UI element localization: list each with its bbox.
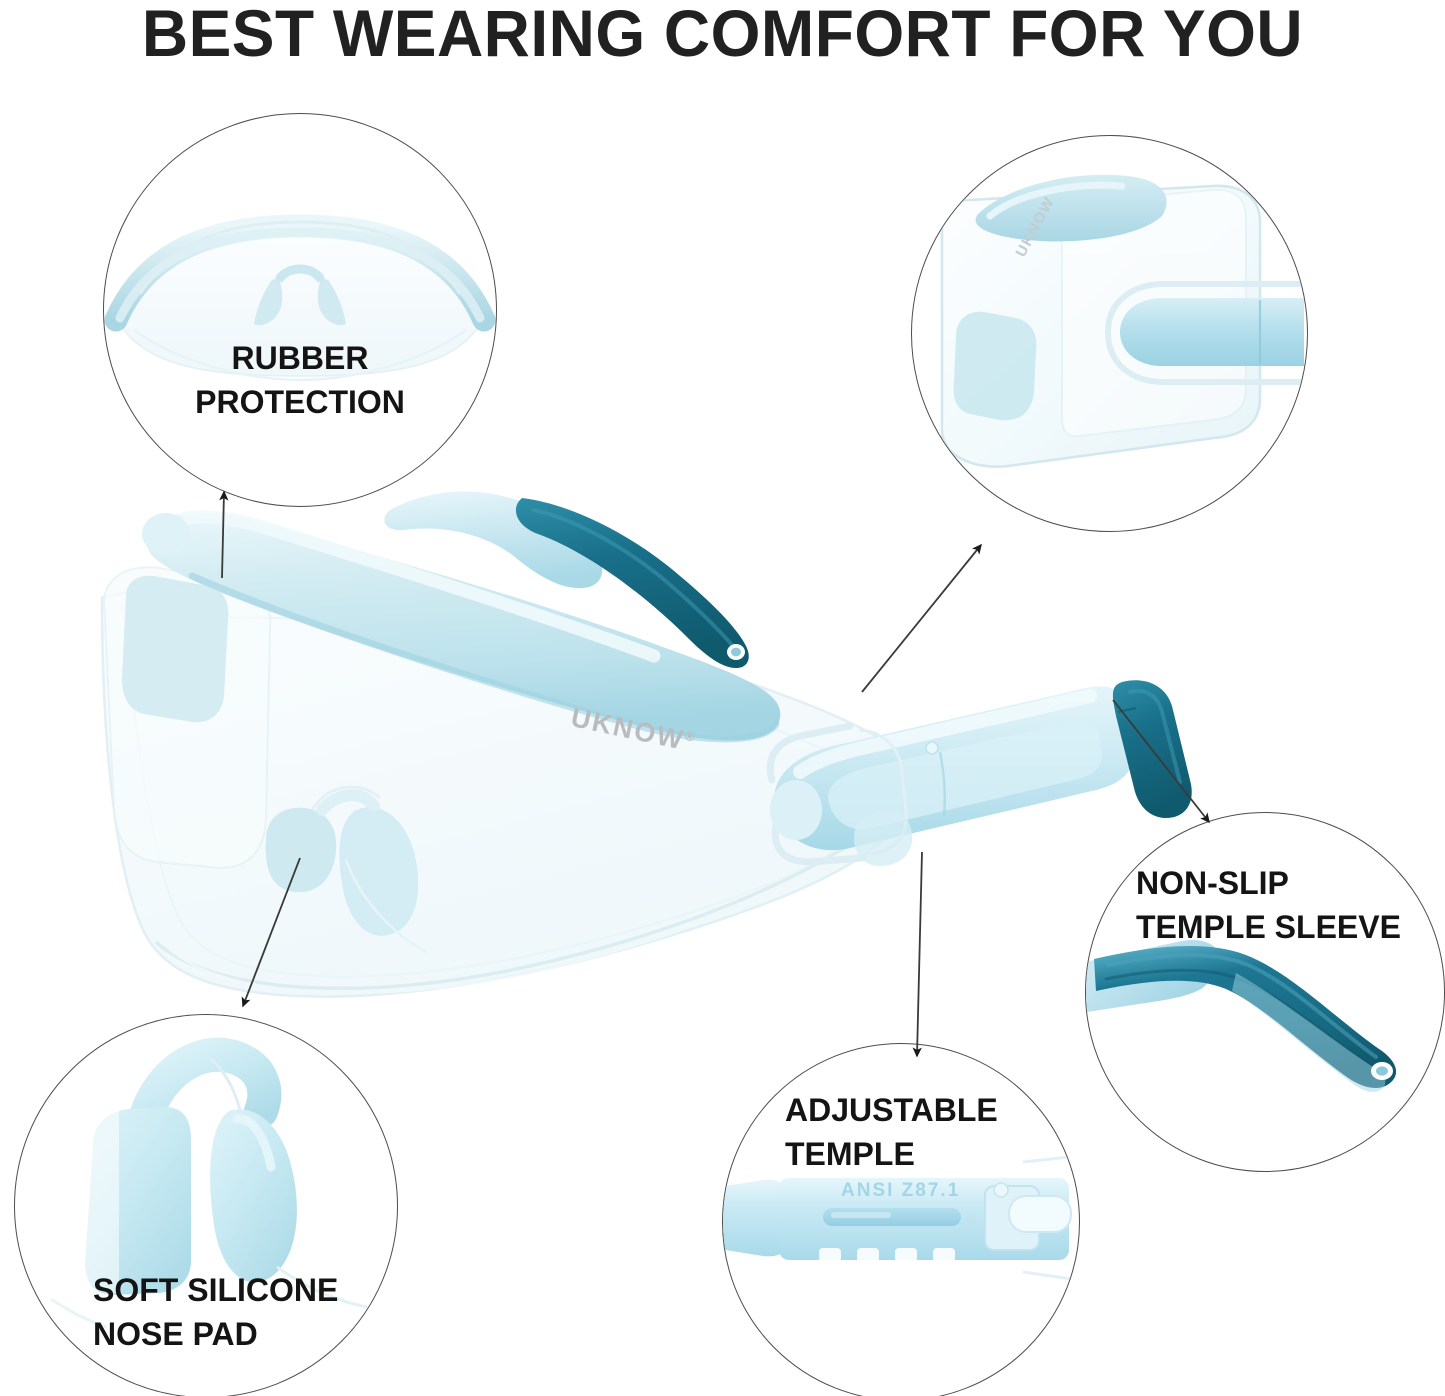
svg-text:ANSI Z87.1: ANSI Z87.1 bbox=[841, 1180, 960, 1201]
page-title: BEST WEARING COMFORT FOR YOU bbox=[22, 0, 1424, 70]
side-shield-art: UKNOW bbox=[912, 136, 1307, 531]
callout-rubber-protection: RUBBER PROTECTION bbox=[103, 113, 497, 507]
brow-bar-rubber-art bbox=[104, 114, 496, 506]
callout-adjustable-temple: ANSI Z87.1 ADJUSTABLE TEMPLE bbox=[722, 1043, 1080, 1396]
safety-glasses-art bbox=[60, 480, 1240, 1050]
product-safety-glasses: UKNOW® bbox=[60, 480, 1240, 1050]
callout-label-rubber-protection: RUBBER PROTECTION bbox=[104, 336, 496, 424]
callout-side-protection: UKNOW SIDE PROTECTION bbox=[911, 135, 1308, 532]
product-infographic: BEST WEARING COMFORT FOR YOU bbox=[0, 0, 1445, 1396]
callout-label-soft-silicone-nose-pad-text: SOFT SILICONE NOSE PAD bbox=[93, 1268, 453, 1356]
callout-label-non-slip-temple-sleeve: NON-SLIP TEMPLE SLEEVE bbox=[1136, 861, 1445, 949]
callout-label-adjustable-temple: ADJUSTABLE TEMPLE bbox=[785, 1088, 1080, 1176]
